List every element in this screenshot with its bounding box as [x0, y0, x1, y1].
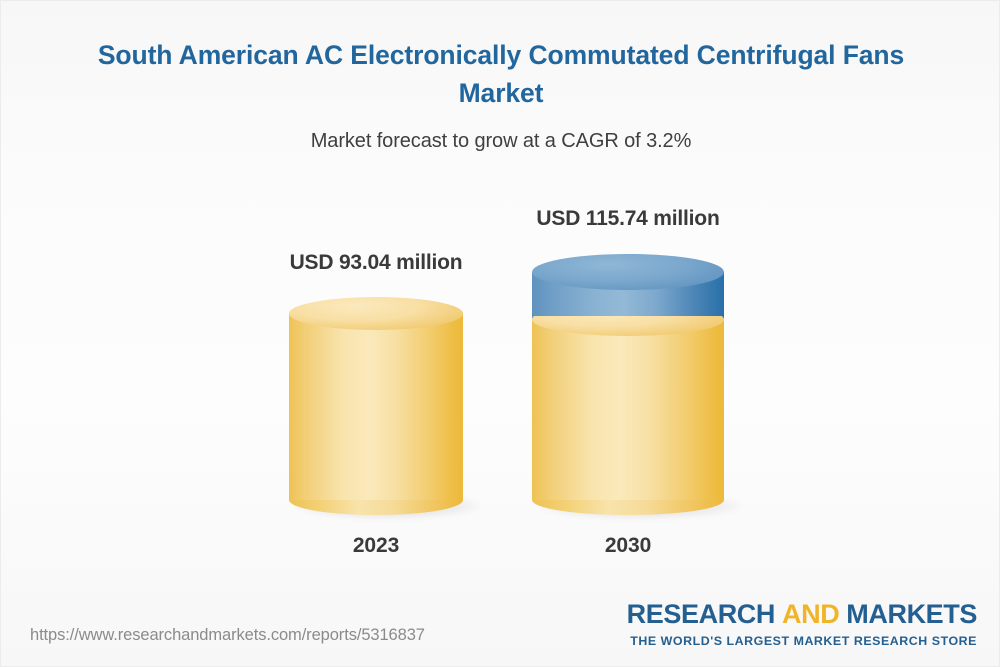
research-and-markets-logo[interactable]: RESEARCHANDMARKETS THE WORLD'S LARGEST M…: [627, 601, 977, 648]
bar-value-label-2023: USD 93.04 million: [289, 251, 463, 275]
cylinder-top-ellipse-2030: [532, 254, 724, 290]
bar-group-2023: USD 93.04 million 2023: [289, 1, 463, 667]
report-url[interactable]: https://www.researchandmarkets.com/repor…: [30, 626, 425, 645]
plot-area: USD 93.04 million 2023 USD 115.74 millio…: [1, 1, 1000, 667]
bar-group-2030: USD 115.74 million 2030: [532, 1, 724, 667]
cylinder-2030: [532, 254, 724, 515]
logo-word-and: AND: [782, 599, 839, 629]
bar-value-label-2030: USD 115.74 million: [532, 207, 724, 231]
logo-tagline: THE WORLD'S LARGEST MARKET RESEARCH STOR…: [627, 634, 977, 648]
bar-category-label-2030: 2030: [532, 534, 724, 558]
cylinder-top-ellipse-2023: [289, 297, 463, 330]
cylinder-body-2023: [289, 314, 463, 500]
cylinder-2023: [289, 297, 463, 515]
logo-word-markets: MARKETS: [846, 599, 977, 629]
chart-canvas: South American AC Electronically Commuta…: [0, 0, 1000, 667]
cylinder-body-gold-2030: [532, 318, 724, 500]
bar-category-label-2023: 2023: [289, 534, 463, 558]
logo-word-research: RESEARCH: [627, 599, 775, 629]
logo-wordmark: RESEARCHANDMARKETS: [627, 601, 977, 628]
